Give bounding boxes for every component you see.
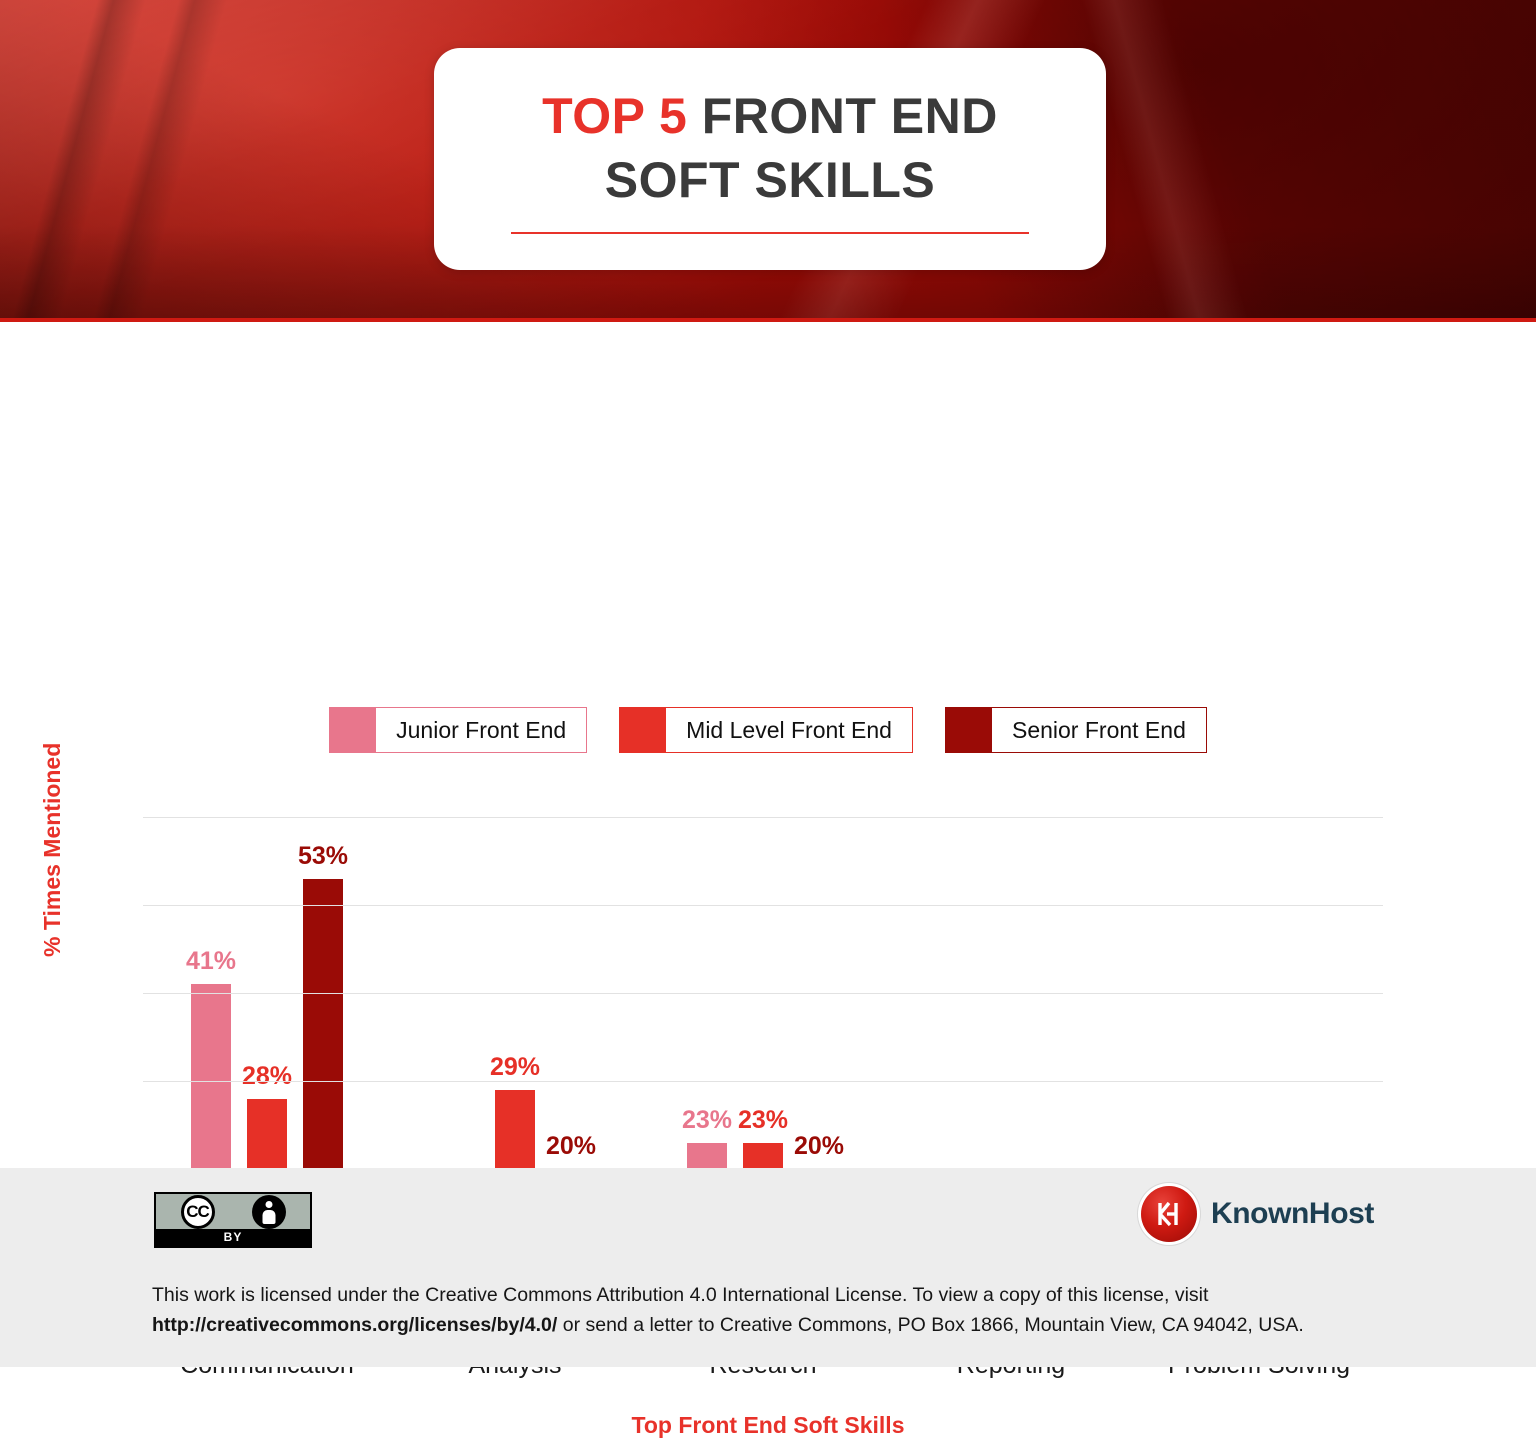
- bar-value-0-2: 53%: [298, 842, 348, 871]
- bar-value-1-2: 20%: [546, 1132, 596, 1161]
- kh-monogram-icon: [1152, 1197, 1186, 1231]
- title-rest: FRONT END: [687, 88, 998, 144]
- legend-swatch-0: [330, 708, 376, 752]
- bar-value-2-2: 20%: [794, 1132, 844, 1161]
- knownhost-logo: KnownHost: [1141, 1186, 1374, 1242]
- footer-brands: CC BY KnownHost: [0, 1168, 1536, 1276]
- page-title-line-2: SOFT SKILLS: [605, 148, 936, 212]
- bar-value-2-0: 23%: [682, 1106, 732, 1135]
- legend-swatch-2: [946, 708, 992, 752]
- gridline-50: [143, 905, 1383, 906]
- license-part-1: This work is licensed under the Creative…: [152, 1284, 1208, 1306]
- chart-section: Junior Front EndMid Level Front EndSenio…: [0, 322, 1536, 1168]
- page-title-line-1: TOP 5 FRONT END: [542, 84, 998, 148]
- title-accent: TOP 5: [542, 88, 687, 144]
- license-url[interactable]: http://creativecommons.org/licenses/by/4…: [152, 1314, 557, 1336]
- bar-value-2-1: 23%: [738, 1106, 788, 1135]
- legend-item-2[interactable]: Senior Front End: [945, 707, 1207, 753]
- bar-value-0-0: 41%: [186, 947, 236, 976]
- header-banner: TOP 5 FRONT END SOFT SKILLS: [0, 0, 1536, 322]
- legend-item-0[interactable]: Junior Front End: [329, 707, 587, 753]
- cc-icon: CC: [181, 1195, 215, 1229]
- bar-value-0-1: 28%: [242, 1062, 292, 1091]
- legend-label-2: Senior Front End: [992, 708, 1206, 752]
- gridline-40: [143, 993, 1383, 994]
- gridline-60: [143, 817, 1383, 818]
- cc-badge-top: CC: [156, 1194, 310, 1229]
- title-underline: [511, 232, 1029, 234]
- title-card: TOP 5 FRONT END SOFT SKILLS: [434, 48, 1106, 270]
- gridline-30: [143, 1081, 1383, 1082]
- knownhost-name: KnownHost: [1211, 1197, 1374, 1231]
- chart-legend: Junior Front EndMid Level Front EndSenio…: [0, 707, 1536, 753]
- footer: CC BY KnownHost This work is licensed un…: [0, 1168, 1536, 1367]
- creative-commons-badge: CC BY: [154, 1192, 312, 1248]
- legend-label-1: Mid Level Front End: [666, 708, 912, 752]
- y-axis-title: % Times Mentioned: [39, 743, 66, 957]
- legend-label-0: Junior Front End: [376, 708, 586, 752]
- x-axis-title: Top Front End Soft Skills: [0, 1412, 1536, 1439]
- cc-by-label: BY: [156, 1229, 310, 1246]
- license-part-2: or send a letter to Creative Commons, PO…: [557, 1314, 1303, 1336]
- license-text: This work is licensed under the Creative…: [152, 1280, 1384, 1340]
- legend-swatch-1: [620, 708, 666, 752]
- knownhost-mark-icon: [1141, 1186, 1197, 1242]
- legend-item-1[interactable]: Mid Level Front End: [619, 707, 913, 753]
- person-icon: [252, 1195, 286, 1229]
- bar-value-1-1: 29%: [490, 1053, 540, 1082]
